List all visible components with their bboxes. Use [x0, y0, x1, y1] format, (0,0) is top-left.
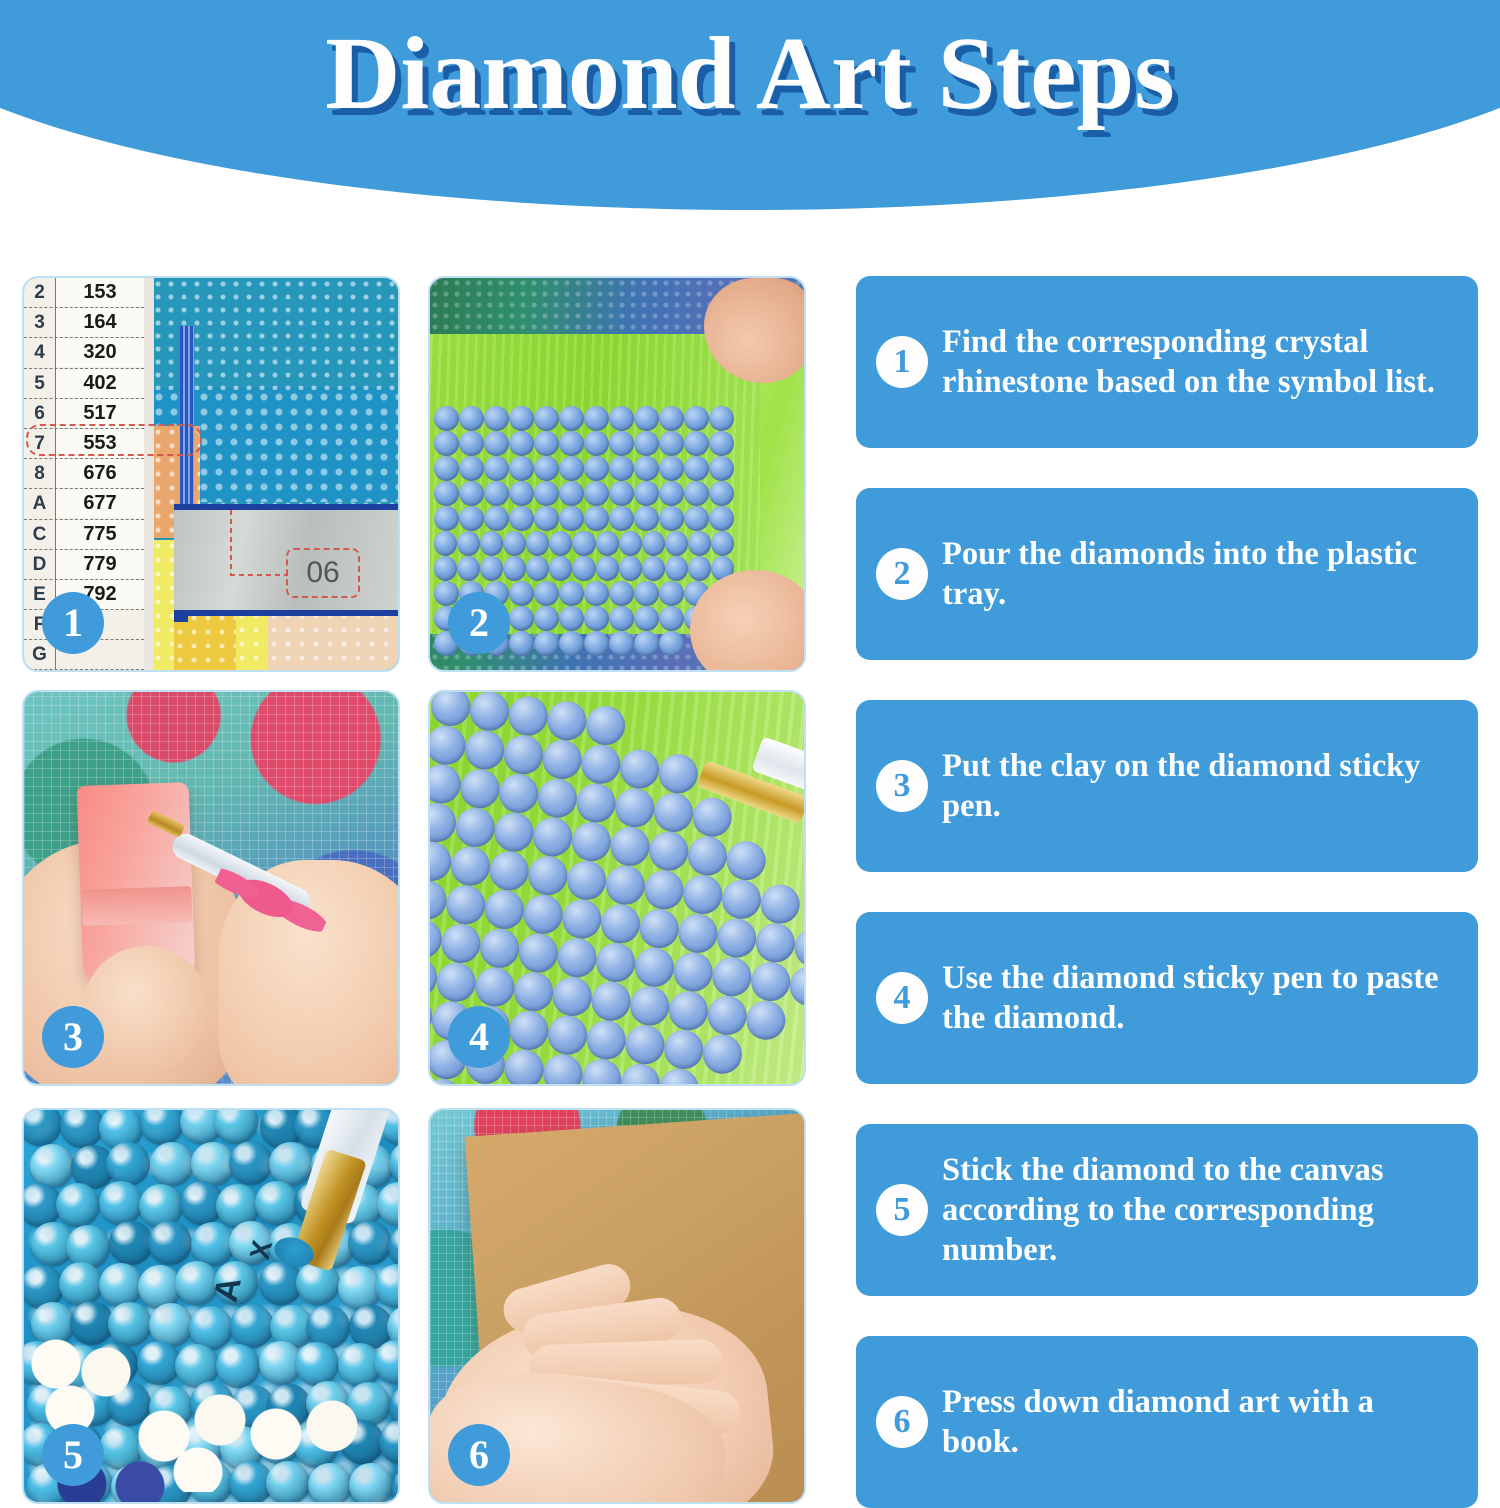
- step-text-5: Stick the diamond to the canvas accordin…: [942, 1150, 1456, 1270]
- diamond-bead: [541, 1052, 584, 1086]
- diamond-bead: [705, 994, 748, 1037]
- diamond-bead: [584, 606, 609, 631]
- diamond-bead: [709, 506, 734, 531]
- diamond-bead: [609, 431, 634, 456]
- diamond-bead: [434, 481, 459, 506]
- diamond-bead: [690, 795, 733, 838]
- diamond-bead: [659, 481, 684, 506]
- diamond-bead: [487, 849, 530, 892]
- diamond-bead: [59, 1262, 103, 1306]
- diamond-bead: [230, 1304, 274, 1348]
- diamond-bead: [428, 840, 453, 883]
- symbol-cell: D: [24, 550, 56, 579]
- diamond-bead: [701, 1032, 744, 1075]
- step-text-2: Pour the diamonds into the plastic tray.: [942, 534, 1456, 614]
- diamond-row: [434, 431, 734, 456]
- diamond-bead: [473, 965, 516, 1008]
- diamond-bead: [509, 631, 534, 656]
- diamond-bead: [459, 481, 484, 506]
- diamond-bead: [549, 531, 572, 556]
- diamond-bead: [584, 506, 609, 531]
- diamond-bead: [744, 999, 787, 1042]
- diamond-bead: [613, 786, 656, 829]
- diamond-bead: [754, 921, 797, 964]
- photo-badge-5: 5: [42, 1424, 104, 1486]
- diamond-bead: [619, 556, 642, 581]
- diamond-bead: [584, 456, 609, 481]
- photo-card-step-3[interactable]: 3: [22, 690, 400, 1086]
- step-number-badge-3: 3: [876, 760, 928, 812]
- diamond-bead: [671, 950, 714, 993]
- diamond-bead: [296, 1261, 340, 1305]
- step-number-badge-1: 1: [876, 336, 928, 388]
- step-panel-4[interactable]: 4 Use the diamond sticky pen to paste th…: [856, 912, 1478, 1084]
- diamond-bead: [484, 481, 509, 506]
- diamond-bead: [619, 531, 642, 556]
- diamond-bead: [659, 431, 684, 456]
- diamond-bead: [56, 1183, 100, 1227]
- step-panel-1[interactable]: 1 Find the corresponding crystal rhinest…: [856, 276, 1478, 448]
- callout-connector-vertical: [230, 510, 232, 576]
- diamond-bead: [681, 873, 724, 916]
- diamond-bead: [229, 1141, 273, 1185]
- diamond-bead: [30, 1144, 74, 1188]
- code-cell: 517: [56, 399, 144, 428]
- diamond-bead: [392, 1466, 400, 1504]
- diamond-row: [434, 556, 734, 581]
- symbol-row: 3 164: [24, 308, 144, 338]
- diamond-bead: [584, 431, 609, 456]
- diamond-bead: [148, 1221, 192, 1265]
- diamond-bead: [665, 531, 688, 556]
- symbol-cell: 5: [24, 369, 56, 398]
- photo-card-step-2[interactable]: 2: [428, 276, 806, 672]
- symbol-row: 8 676: [24, 459, 144, 489]
- photo-badge-2: 2: [448, 592, 510, 654]
- diamond-bead: [269, 1142, 313, 1186]
- diamond-bead: [502, 733, 545, 776]
- diamond-bead: [99, 1181, 143, 1225]
- step-panel-6[interactable]: 6 Press down diamond art with a book.: [856, 1336, 1478, 1508]
- diamond-bead: [623, 1023, 666, 1066]
- diamond-bead: [140, 1108, 184, 1145]
- step-number-badge-5: 5: [876, 1184, 928, 1236]
- diamond-bead: [559, 431, 584, 456]
- diamond-bead: [216, 1344, 260, 1388]
- symbol-row: D 779: [24, 550, 144, 580]
- diamond-bead: [434, 406, 459, 431]
- diamond-bead: [512, 970, 555, 1013]
- code-cell: 164: [56, 308, 144, 337]
- diamond-bead: [724, 839, 767, 882]
- diamond-bead: [659, 406, 684, 431]
- diamond-bead: [792, 926, 806, 969]
- diamond-bead: [444, 883, 487, 926]
- diamond-bead: [684, 406, 709, 431]
- diamond-bead: [521, 893, 564, 936]
- diamond-bead: [546, 1013, 589, 1056]
- diamond-bead: [503, 556, 526, 581]
- page-title: Diamond Art Steps: [0, 18, 1500, 130]
- diamond-bead: [634, 406, 659, 431]
- photo-grid: 2 153 3 164 4 320 5 402 6 517: [22, 276, 822, 1482]
- diamond-bead: [545, 699, 588, 742]
- step-text-4: Use the diamond sticky pen to paste the …: [942, 958, 1456, 1038]
- step-panel-5[interactable]: 5 Stick the diamond to the canvas accord…: [856, 1124, 1478, 1296]
- diamond-bead: [463, 728, 506, 771]
- diamond-bead: [634, 431, 659, 456]
- diamond-bead: [549, 556, 572, 581]
- diamond-bead: [434, 506, 459, 531]
- diamond-bead: [585, 1018, 628, 1061]
- diamond-bead: [559, 456, 584, 481]
- diamond-bead: [22, 1108, 62, 1146]
- diamond-bead: [686, 834, 729, 877]
- diamond-bead: [594, 941, 637, 984]
- symbol-row: 7 553: [24, 429, 144, 459]
- step-number-badge-6: 6: [876, 1396, 928, 1448]
- steps-column: 1 Find the corresponding crystal rhinest…: [856, 276, 1478, 1484]
- diamond-bead: [788, 965, 806, 1008]
- diamond-bead: [715, 916, 758, 959]
- diamond-bead: [711, 531, 734, 556]
- diamond-bead: [255, 1181, 299, 1225]
- diamond-bead: [478, 927, 521, 970]
- symbol-cell: 7: [24, 429, 56, 458]
- diamond-bead: [609, 581, 634, 606]
- step-text-1: Find the corresponding crystal rhineston…: [942, 322, 1456, 402]
- code-cell: 779: [56, 550, 144, 579]
- diamond-bead: [109, 1221, 153, 1265]
- diamond-bead: [534, 431, 559, 456]
- diamond-bead: [453, 806, 496, 849]
- symbol-row: 4 320: [24, 338, 144, 368]
- diamond-bead: [628, 984, 671, 1027]
- photo-card-step-6[interactable]: 6: [428, 1108, 806, 1504]
- diamond-bead: [483, 888, 526, 931]
- diamond-bead: [584, 704, 627, 747]
- diamond-bead: [555, 936, 598, 979]
- diamond-bead: [459, 456, 484, 481]
- diamond-bead: [609, 456, 634, 481]
- diamond-bead: [647, 829, 690, 872]
- diamond-bead: [534, 631, 559, 656]
- diamond-bead: [572, 556, 595, 581]
- diamond-bead: [534, 606, 559, 631]
- diamond-bead: [389, 1141, 400, 1185]
- diamond-bead: [484, 406, 509, 431]
- pink-clay-fold: [81, 886, 192, 926]
- photo-badge-4: 4: [448, 1006, 510, 1068]
- photo-badge-6: 6: [448, 1424, 510, 1486]
- diamond-bead: [502, 1047, 545, 1086]
- white-diamond-cluster-left: [30, 1338, 140, 1434]
- diamond-bead: [642, 868, 685, 911]
- diamond-bead: [676, 912, 719, 955]
- diamond-row: [434, 456, 734, 481]
- diamond-bead: [526, 556, 549, 581]
- step-panel-2[interactable]: 2 Pour the diamonds into the plastic tra…: [856, 488, 1478, 660]
- step-number-badge-4: 4: [876, 972, 928, 1024]
- diamond-bead: [551, 975, 594, 1018]
- diamond-bead: [572, 531, 595, 556]
- diamond-bead: [459, 431, 484, 456]
- diamond-bead: [642, 556, 665, 581]
- diamond-bead: [509, 431, 534, 456]
- diamond-bead: [634, 581, 659, 606]
- diamond-bead: [295, 1342, 339, 1386]
- diamond-bead: [457, 531, 480, 556]
- diamond-row: [434, 481, 734, 506]
- diamond-row: [434, 531, 734, 556]
- code-cell: 153: [56, 278, 144, 307]
- diamond-bead: [634, 606, 659, 631]
- diamond-bead: [377, 1182, 400, 1226]
- diamond-bead: [634, 631, 659, 656]
- diamond-bead: [688, 556, 711, 581]
- diamond-bead: [375, 1264, 400, 1308]
- diamond-bead: [633, 946, 676, 989]
- diamond-bead: [484, 431, 509, 456]
- diamond-bead: [609, 631, 634, 656]
- diamond-bead: [684, 456, 709, 481]
- diamond-bead: [214, 1108, 258, 1144]
- diamond-bead: [526, 531, 549, 556]
- diamond-bead: [348, 1221, 392, 1265]
- diamond-bead: [534, 581, 559, 606]
- symbol-cell: A: [24, 489, 56, 518]
- diamond-bead: [659, 631, 684, 656]
- photo-card-step-1[interactable]: 2 153 3 164 4 320 5 402 6 517: [22, 276, 400, 672]
- diamond-bead: [684, 431, 709, 456]
- diamond-bead: [684, 506, 709, 531]
- diamond-bead: [458, 767, 501, 810]
- code-cell: 775: [56, 520, 144, 549]
- diamond-bead: [560, 897, 603, 940]
- diamond-bead: [559, 406, 584, 431]
- symbol-cell: 6: [24, 399, 56, 428]
- diamond-bead: [526, 854, 569, 897]
- symbol-row-highlighted: 6 517: [24, 399, 144, 429]
- symbol-row: C 775: [24, 520, 144, 550]
- diamond-bead: [659, 581, 684, 606]
- diamond-bead: [618, 747, 661, 790]
- bag-code-label: 06: [306, 556, 339, 590]
- diamond-bead: [657, 752, 700, 795]
- diamond-bead: [429, 690, 472, 728]
- symbol-list-margin: [144, 278, 154, 670]
- code-cell: 676: [56, 459, 144, 488]
- diamond-bead: [642, 531, 665, 556]
- diamond-bead: [468, 690, 511, 733]
- photo-card-step-5[interactable]: A X 5: [22, 1108, 400, 1504]
- diamond-bead: [506, 694, 549, 737]
- symbol-cell: 4: [24, 338, 56, 367]
- diamond-bead: [434, 961, 477, 1004]
- diamond-bead: [434, 431, 459, 456]
- diamond-bead: [638, 907, 681, 950]
- diamond-bead: [710, 955, 753, 998]
- diamond-bead: [604, 863, 647, 906]
- diamond-bead: [99, 1263, 143, 1307]
- diamond-bead: [709, 481, 734, 506]
- code-cell: 402: [56, 369, 144, 398]
- diamond-bead: [596, 556, 619, 581]
- diamond-bead: [688, 531, 711, 556]
- diamond-bead: [580, 1057, 623, 1086]
- diamond-bead: [584, 581, 609, 606]
- diamond-bead: [534, 456, 559, 481]
- diamond-bead: [684, 481, 709, 506]
- photo-card-step-4[interactable]: 4: [428, 690, 806, 1086]
- diamond-bead: [428, 801, 458, 844]
- diamond-bead: [559, 581, 584, 606]
- diamond-bead: [570, 820, 613, 863]
- diamond-bead: [531, 815, 574, 858]
- bag-code-callout-box: 06: [286, 548, 360, 598]
- diamond-bead: [720, 878, 763, 921]
- symbol-row: 2 153: [24, 278, 144, 308]
- header-banner: Diamond Art Steps: [0, 0, 1500, 210]
- diamond-row: [434, 406, 734, 431]
- diamond-bead: [509, 581, 534, 606]
- diamond-bead: [579, 743, 622, 786]
- diamond-bead: [106, 1142, 150, 1186]
- diamond-bead: [609, 481, 634, 506]
- diamond-bead: [509, 606, 534, 631]
- diamond-bead: [709, 456, 734, 481]
- diamond-bead: [484, 456, 509, 481]
- diamond-bead: [434, 456, 459, 481]
- diamond-bead: [565, 859, 608, 902]
- step-text-6: Press down diamond art with a book.: [942, 1382, 1456, 1462]
- symbol-cell: C: [24, 520, 56, 549]
- diamond-bead: [480, 531, 503, 556]
- diamond-bead: [584, 406, 609, 431]
- diamond-bead: [634, 506, 659, 531]
- diamond-bead: [609, 606, 634, 631]
- step-panel-3[interactable]: 3 Put the clay on the diamond sticky pen…: [856, 700, 1478, 872]
- diamond-bead: [709, 431, 734, 456]
- step-number-badge-2: 2: [876, 548, 928, 600]
- diamond-bead: [758, 882, 801, 925]
- diamond-bead: [459, 406, 484, 431]
- code-cell: 320: [56, 338, 144, 367]
- diamond-bead: [609, 406, 634, 431]
- diamond-bead: [574, 781, 617, 824]
- diamond-bead: [659, 456, 684, 481]
- symbol-row: 5 402: [24, 369, 144, 399]
- diamond-row: [434, 506, 734, 531]
- diamond-bead: [659, 606, 684, 631]
- diamond-bead: [749, 960, 792, 1003]
- diamond-bead: [480, 556, 503, 581]
- diamond-bead: [536, 776, 579, 819]
- diamond-bead: [559, 506, 584, 531]
- diamond-bead: [379, 1420, 400, 1464]
- diamond-bead: [584, 631, 609, 656]
- diamond-bead: [509, 406, 534, 431]
- diamond-bead: [534, 481, 559, 506]
- callout-connector-horizontal: [230, 574, 288, 576]
- photo-badge-3: 3: [42, 1006, 104, 1068]
- diamond-bead: [457, 556, 480, 581]
- diamond-bead: [584, 481, 609, 506]
- step-text-3: Put the clay on the diamond sticky pen.: [942, 746, 1456, 826]
- diamond-bead: [634, 456, 659, 481]
- diamond-bead: [497, 772, 540, 815]
- diamond-bead: [634, 481, 659, 506]
- code-cell: 677: [56, 489, 144, 518]
- diamond-bead: [596, 531, 619, 556]
- diamond-bead: [492, 810, 535, 853]
- diamond-bead: [559, 481, 584, 506]
- diamond-bead: [509, 506, 534, 531]
- diamond-bead: [665, 556, 688, 581]
- symbol-row: A 677: [24, 489, 144, 519]
- diamond-bead: [459, 506, 484, 531]
- diamond-bead: [608, 825, 651, 868]
- diamond-bead: [509, 456, 534, 481]
- diamond-bead: [434, 556, 457, 581]
- diamond-bead: [609, 506, 634, 531]
- diamond-bead: [449, 844, 492, 887]
- diamond-bead: [137, 1341, 181, 1385]
- symbol-cell: 2: [24, 278, 56, 307]
- diamond-bead: [652, 791, 695, 834]
- diamond-bead: [559, 631, 584, 656]
- diamond-bead: [517, 931, 560, 974]
- diamond-bead: [509, 481, 534, 506]
- diamond-bead: [540, 738, 583, 781]
- thumb: [82, 946, 210, 1076]
- diamond-bead: [589, 980, 632, 1023]
- diamond-bead: [484, 506, 509, 531]
- diamond-bead: [659, 506, 684, 531]
- photo-badge-1: 1: [42, 592, 104, 654]
- diamond-bead: [559, 606, 584, 631]
- diamond-bead: [150, 1142, 194, 1186]
- diamond-bead: [428, 723, 468, 766]
- diamond-bead: [507, 1009, 550, 1052]
- diamond-bead: [709, 406, 734, 431]
- diamond-bead: [662, 1028, 705, 1071]
- diamond-bead: [599, 902, 642, 945]
- diamond-bead: [667, 989, 710, 1032]
- diamond-bead: [534, 406, 559, 431]
- diamond-bead: [191, 1142, 235, 1186]
- symbol-cell: 8: [24, 459, 56, 488]
- diamond-bead: [503, 531, 526, 556]
- diamond-bead: [439, 922, 482, 965]
- code-cell: 553: [56, 429, 144, 458]
- diamond-bead: [619, 1062, 662, 1086]
- diamond-bead: [428, 762, 463, 805]
- symbol-cell: 3: [24, 308, 56, 337]
- diamond-bead: [534, 506, 559, 531]
- diamond-bead: [60, 1108, 104, 1148]
- diamond-bead: [388, 1225, 400, 1269]
- diamond-bead: [434, 531, 457, 556]
